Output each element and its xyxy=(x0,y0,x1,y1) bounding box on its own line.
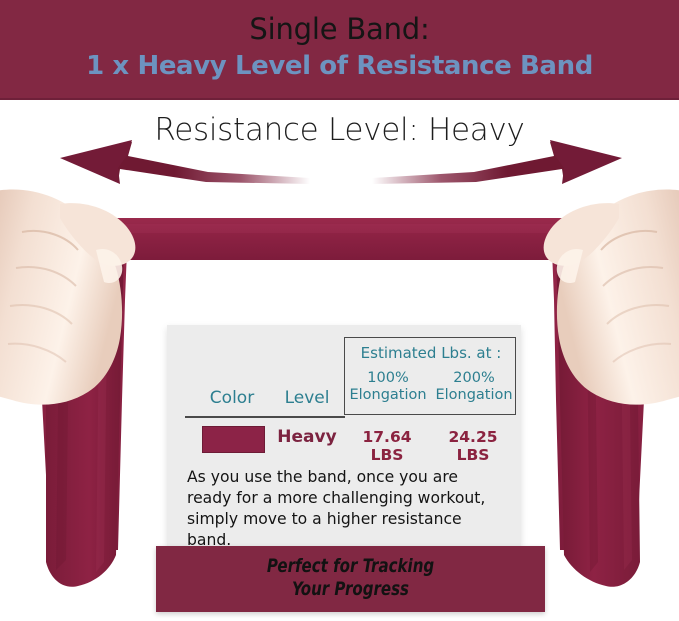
cell-level: Heavy xyxy=(275,427,339,447)
product-photo-stage: Resistance Level: Heavy Estimated Lbs. a… xyxy=(0,100,679,621)
cell-100-elongation: 17.64 LBS xyxy=(344,428,430,464)
column-header-level: Level xyxy=(275,388,339,408)
column-header-200-line2: Elongation xyxy=(431,387,517,404)
band-highlight xyxy=(118,224,562,233)
usage-note: As you use the band, once you are ready … xyxy=(187,467,507,551)
band-color-swatch xyxy=(202,426,265,453)
estimated-lbs-caption: Estimated Lbs. at : xyxy=(345,344,517,362)
column-header-100-line2: Elongation xyxy=(345,387,431,404)
table-row: Heavy 17.64 LBS 24.25 LBS xyxy=(167,423,521,455)
footer-tagline: Perfect for Tracking Your Progress xyxy=(179,555,521,601)
header-subtitle: 1 x Heavy Level of Resistance Band xyxy=(0,53,679,80)
spec-panel: Estimated Lbs. at : 100% Elongation 200%… xyxy=(167,325,521,547)
column-header-100-elongation: 100% Elongation xyxy=(345,370,431,403)
column-header-200-elongation: 200% Elongation xyxy=(431,370,517,403)
footer-banner: Perfect for Tracking Your Progress xyxy=(156,546,545,612)
product-infographic: Single Band: 1 x Heavy Level of Resistan… xyxy=(0,0,679,621)
column-header-200-line1: 200% xyxy=(431,370,517,387)
cell-200-elongation: 24.25 LBS xyxy=(430,428,516,464)
resistance-level-headline: Resistance Level: Heavy xyxy=(0,112,679,148)
footer-tagline-line1: Perfect for Tracking xyxy=(179,555,521,578)
table-header-rule xyxy=(185,416,345,418)
header-banner: Single Band: 1 x Heavy Level of Resistan… xyxy=(0,0,679,100)
column-header-color: Color xyxy=(193,388,271,408)
estimated-lbs-header-box: Estimated Lbs. at : 100% Elongation 200%… xyxy=(344,337,516,415)
column-header-100-line1: 100% xyxy=(345,370,431,387)
footer-tagline-line2: Your Progress xyxy=(179,578,521,601)
page-title: Single Band: xyxy=(0,14,679,44)
